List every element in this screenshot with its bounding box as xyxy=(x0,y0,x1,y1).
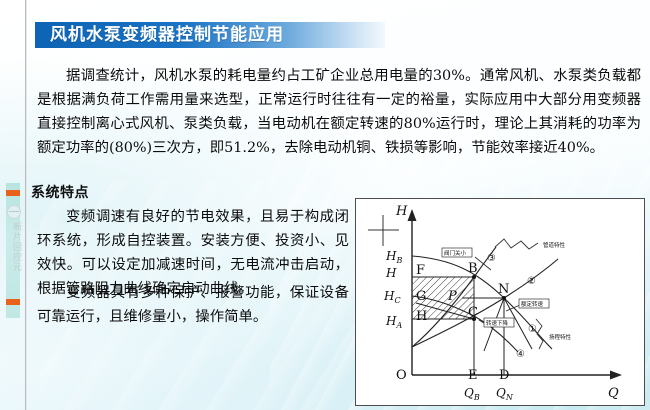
ytick-HC: HC xyxy=(383,289,401,305)
point-label-B: B xyxy=(468,261,478,276)
curve-number-2: ② xyxy=(527,276,536,287)
svg-text:转速下降: 转速下降 xyxy=(486,319,509,327)
left-rail-accent-top xyxy=(6,190,20,196)
crosshair-icon xyxy=(368,215,399,246)
page-canvas: 断片回控元 风机水泵变频器控制节能应用 据调查统计，风机水泵的耗电量约占工矿企业… xyxy=(0,0,650,410)
ytick-HA: HA xyxy=(385,314,402,330)
svg-text:扬程特性: 扬程特性 xyxy=(549,333,572,341)
ytick-H: H xyxy=(385,266,397,280)
leader-head-characteristic xyxy=(536,319,543,349)
point-label-H-corner: H xyxy=(416,309,427,324)
axis-label-Q: Q xyxy=(608,386,619,401)
point-label-N: N xyxy=(498,282,509,297)
annotation-rated-speed: 额定转速 xyxy=(519,299,549,308)
annotation-speed-drop: 转速下降 xyxy=(484,318,514,327)
origin-label-O: O xyxy=(396,368,407,383)
svg-text:管道特性: 管道特性 xyxy=(543,241,566,249)
annotation-pipe-characteristic: 管道特性 xyxy=(542,240,572,249)
point-label-F: F xyxy=(416,263,425,278)
curve-number-4: ④ xyxy=(516,349,525,360)
page-title: 风机水泵变频器控制节能应用 xyxy=(50,24,284,47)
section-paragraph-2: 变频器具有多种保护、报警功能，保证设备可靠运行，且维修量小，操作简单。 xyxy=(37,281,349,329)
leader-pipe-characteristic xyxy=(495,239,538,249)
annotation-head-characteristic: 扬程特性 xyxy=(548,332,578,341)
xtick-QB: QB xyxy=(464,386,480,402)
curve-number-3: ③ xyxy=(487,253,496,264)
svg-text:额定转速: 额定转速 xyxy=(521,300,544,308)
left-rail-accent-bottom xyxy=(6,299,20,305)
pump-curve-svg: HB H HC HA H F B G P N H C O E D Q xyxy=(356,199,644,405)
annotation-valve-closing: 阀门关小 xyxy=(442,248,472,257)
point-label-C: C xyxy=(468,305,478,320)
xtick-E: E xyxy=(468,368,478,383)
point-label-G: G xyxy=(416,289,426,304)
intro-paragraph: 据调查统计，风机水泵的耗电量约占工矿企业总用电量的30%。通常风机、水泵类负载都… xyxy=(37,64,641,160)
svg-text:阀门关小: 阀门关小 xyxy=(444,249,467,257)
xtick-D: D xyxy=(499,368,509,383)
curve-number-1: ① xyxy=(528,324,537,335)
ytick-HB: HB xyxy=(385,249,402,265)
axis-label-H: H xyxy=(395,204,408,219)
left-rule-line-shadow xyxy=(26,0,27,410)
xtick-QN: QN xyxy=(496,386,514,402)
section-heading: 系统特点 xyxy=(31,182,89,202)
point-label-P: P xyxy=(447,289,457,304)
globe-icon xyxy=(7,205,21,219)
left-rail-vertical-text: 断片回控元 xyxy=(5,222,21,272)
pump-curve-figure: HB H HC HA H F B G P N H C O E D Q xyxy=(355,198,645,406)
